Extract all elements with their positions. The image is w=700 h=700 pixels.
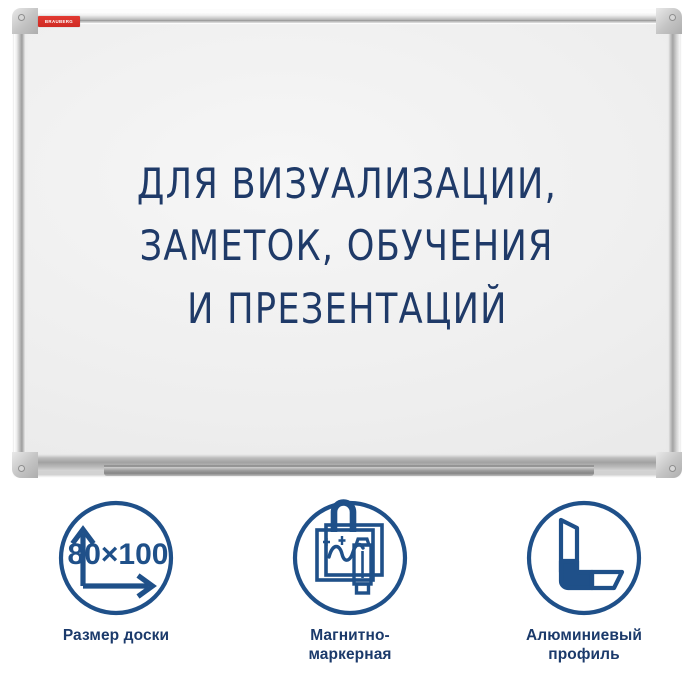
feature-magnetic-marker-label: Магнитно- маркерная <box>308 627 391 665</box>
feature-board-size-label: Размер доски <box>63 627 169 646</box>
feature-magnetic-marker-label-line1: Магнитно- <box>308 627 391 646</box>
feature-board-size: 80×100 Размер доски <box>20 498 212 646</box>
whiteboard: BRAUBERG ДЛЯ ВИЗУАЛИЗАЦИИ, ЗАМЕТОК, ОБУЧ… <box>8 6 692 484</box>
marker-tray <box>104 467 594 476</box>
magnet-marker-board-icon <box>290 498 410 618</box>
feature-list: 80×100 Размер доски <box>0 498 700 693</box>
board-size-arrows-icon: 80×100 <box>56 498 176 618</box>
corner-screw-icon <box>669 14 676 21</box>
product-marketing-image: BRAUBERG ДЛЯ ВИЗУАЛИЗАЦИИ, ЗАМЕТОК, ОБУЧ… <box>0 0 700 700</box>
brand-sticker: BRAUBERG <box>38 16 80 27</box>
feature-aluminium-profile-label-line1: Алюминиевый <box>526 627 642 646</box>
frame-rail-left <box>14 18 26 470</box>
brand-name: BRAUBERG <box>45 19 73 24</box>
frame-corner-cap-top-left <box>12 8 38 34</box>
feature-aluminium-profile-label-line2: профиль <box>526 646 642 665</box>
feature-aluminium-profile: Алюминиевый профиль <box>488 498 680 665</box>
aluminium-profile-icon <box>524 498 644 618</box>
frame-corner-cap-top-right <box>656 8 682 34</box>
corner-screw-icon <box>669 465 676 472</box>
whiteboard-writing-surface <box>26 23 668 456</box>
frame-rail-top-highlight <box>18 20 676 21</box>
frame-corner-cap-bottom-left <box>12 452 38 478</box>
feature-magnetic-marker-label-line2: маркерная <box>308 646 391 665</box>
frame-rail-top <box>16 12 678 23</box>
feature-aluminium-profile-label: Алюминиевый профиль <box>526 627 642 665</box>
frame-rail-right <box>668 18 680 470</box>
corner-screw-icon <box>18 14 25 21</box>
board-size-value: 80×100 <box>68 538 169 571</box>
corner-screw-icon <box>18 465 25 472</box>
feature-magnetic-marker: Магнитно- маркерная <box>254 498 446 665</box>
frame-corner-cap-bottom-right <box>656 452 682 478</box>
